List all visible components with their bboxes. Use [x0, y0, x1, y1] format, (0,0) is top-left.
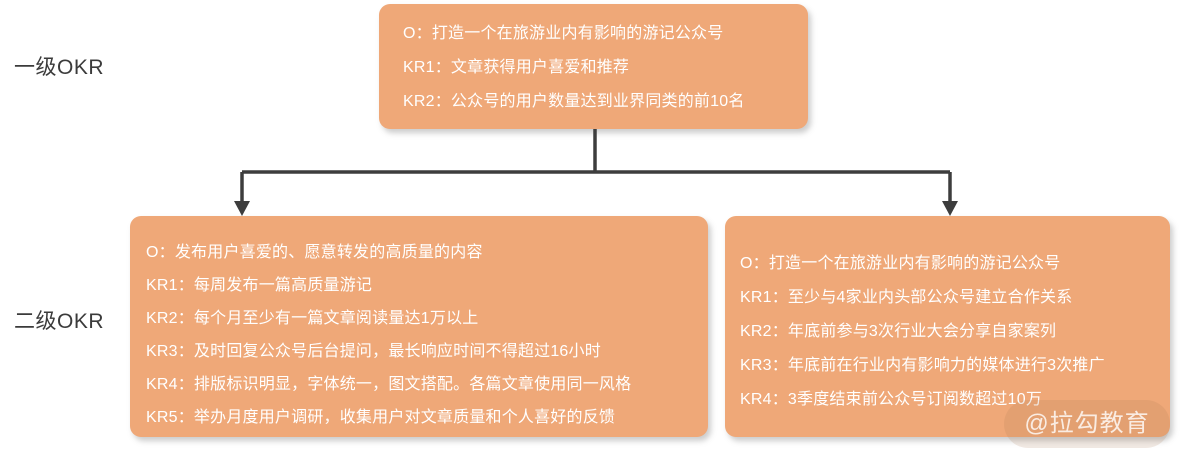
okr-line-level1-1: KR1：文章获得用户喜爱和推荐 [403, 60, 629, 76]
okr-diagram-canvas: { "diagram": { "title": "OKR 层级分解图", "ba… [0, 0, 1182, 459]
okr-line-level2-promotion-4: KR4：3季度结束前公众号订阅数超过10万 [740, 392, 1042, 408]
watermark-text: @拉勾教育 [1024, 412, 1149, 436]
level-2-label: 二级OKR [14, 311, 104, 332]
okr-line-level1-0: O：打造一个在旅游业内有影响的游记公众号 [403, 26, 723, 42]
arrowhead-right-icon [942, 201, 958, 216]
okr-line-level2-content-5: KR5：举办月度用户调研，收集用户对文章质量和个人喜好的反馈 [146, 410, 615, 426]
okr-line-level2-promotion-2: KR2：年底前参与3次行业大会分享自家案列 [740, 324, 1056, 340]
level-1-label: 一级OKR [14, 57, 104, 78]
okr-line-level2-content-2: KR2：每个月至少有一篇文章阅读量达1万以上 [146, 311, 478, 327]
okr-line-level2-promotion-0: O：打造一个在旅游业内有影响的游记公众号 [740, 256, 1060, 272]
okr-line-level2-content-0: O：发布用户喜爱的、愿意转发的高质量的内容 [146, 245, 483, 261]
watermark-badge: @拉勾教育 [1004, 400, 1170, 448]
arrowhead-left-icon [234, 201, 250, 216]
okr-line-level2-promotion-3: KR3：年底前在行业内有影响力的媒体进行3次推广 [740, 358, 1105, 374]
okr-line-level2-content-4: KR4：排版标识明显，字体统一，图文搭配。各篇文章使用同一风格 [146, 377, 631, 393]
okr-line-level2-content-1: KR1：每周发布一篇高质量游记 [146, 278, 372, 294]
okr-line-level2-promotion-1: KR1：至少与4家业内头部公众号建立合作关系 [740, 290, 1072, 306]
okr-line-level2-content-3: KR3：及时回复公众号后台提问，最长响应时间不得超过16小时 [146, 344, 601, 360]
okr-line-level1-2: KR2：公众号的用户数量达到业界同类的前10名 [403, 94, 745, 110]
